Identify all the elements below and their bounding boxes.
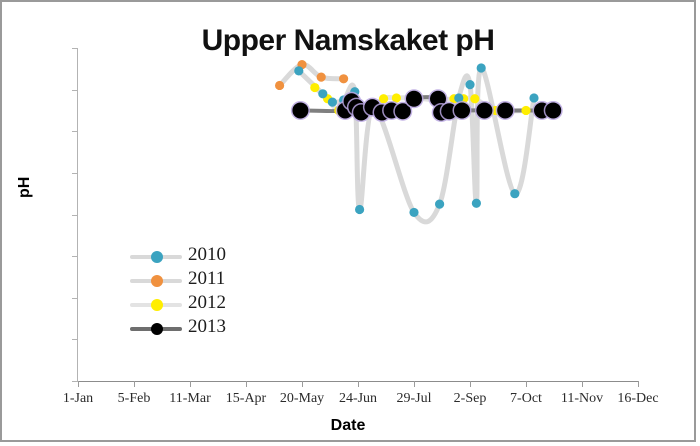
data-point <box>472 199 481 208</box>
legend-item-2010[interactable]: 2010 <box>130 245 255 269</box>
data-point <box>294 66 303 75</box>
data-point <box>392 93 401 102</box>
legend-marker-dot <box>151 275 163 287</box>
data-point <box>409 93 418 102</box>
series-2010 <box>299 68 534 222</box>
data-point <box>534 102 550 118</box>
data-point <box>348 99 364 115</box>
data-point <box>334 106 343 115</box>
data-point <box>435 199 444 208</box>
y-tick-mark <box>72 256 78 257</box>
legend-label: 2011 <box>188 268 225 290</box>
x-tick-mark <box>582 381 583 387</box>
data-point <box>544 106 553 115</box>
data-point <box>297 60 306 69</box>
legend-item-2011[interactable]: 2011 <box>130 269 255 293</box>
data-point <box>497 102 513 118</box>
legend-label: 2013 <box>188 316 226 338</box>
series-2013 <box>300 97 553 113</box>
marker-halo <box>347 98 366 117</box>
data-point <box>433 105 449 121</box>
x-tick-mark <box>358 381 359 387</box>
y-tick-mark <box>72 298 78 299</box>
data-point <box>491 106 500 115</box>
marker-halo <box>336 101 355 120</box>
marker-halo <box>429 89 448 108</box>
series-markers-2010 <box>294 63 538 217</box>
marker-halo <box>373 103 392 122</box>
chart-legend: 2010201120122013 <box>130 245 255 341</box>
data-point <box>353 105 369 121</box>
series-2011 <box>280 65 344 86</box>
series-line-2013 <box>300 97 553 113</box>
data-point <box>339 95 348 104</box>
x-tick-mark <box>470 381 471 387</box>
data-point <box>529 93 538 102</box>
data-point <box>323 94 332 103</box>
marker-halo <box>496 101 515 120</box>
data-point <box>369 104 378 113</box>
data-point <box>384 102 400 118</box>
y-tick-mark <box>72 90 78 91</box>
series-markers-2011 <box>275 60 348 90</box>
data-point <box>510 189 519 198</box>
data-point <box>350 87 359 96</box>
data-point <box>328 98 337 107</box>
legend-marker-dot <box>151 299 163 311</box>
series-markers-2012 <box>310 83 553 117</box>
data-point <box>374 105 390 121</box>
data-point <box>395 103 411 119</box>
series-line-2010 <box>299 68 534 222</box>
x-tick-mark <box>134 381 135 387</box>
y-tick-mark <box>72 173 78 174</box>
data-point <box>454 102 470 118</box>
legend-label: 2010 <box>188 244 226 266</box>
series-line-2011 <box>280 65 344 86</box>
data-point <box>459 94 468 103</box>
y-tick-mark <box>72 215 78 216</box>
chart-container: Upper Namskaket pH pH Date 876543210 1-J… <box>0 0 696 442</box>
legend-marker-dot <box>151 323 163 335</box>
data-point <box>355 205 364 214</box>
marker-halo <box>544 101 563 120</box>
marker-halo <box>291 101 310 120</box>
marker-halo <box>393 102 412 121</box>
marker-halo <box>440 102 459 121</box>
data-point <box>275 81 284 90</box>
y-tick-mark <box>72 48 78 49</box>
data-point <box>521 106 530 115</box>
data-point <box>406 91 422 107</box>
marker-halo <box>382 101 401 120</box>
data-point <box>337 102 353 118</box>
series-2012 <box>315 88 549 113</box>
x-tick-mark <box>526 381 527 387</box>
series-line-2012 <box>315 88 549 113</box>
data-point <box>379 94 388 103</box>
marker-halo <box>432 103 451 122</box>
data-point <box>470 94 479 103</box>
data-point <box>441 103 457 119</box>
legend-item-2012[interactable]: 2012 <box>130 293 255 317</box>
y-tick-mark <box>72 131 78 132</box>
y-tick-mark <box>72 339 78 340</box>
data-point <box>433 95 442 104</box>
data-point <box>360 108 369 117</box>
legend-label: 2012 <box>188 292 226 314</box>
data-point <box>449 94 458 103</box>
series-markers-2013 <box>291 89 563 122</box>
x-tick-mark <box>638 381 639 387</box>
marker-halo <box>453 101 472 120</box>
data-point <box>292 102 308 118</box>
marker-halo <box>342 92 361 111</box>
x-tick-mark <box>302 381 303 387</box>
chart-title: Upper Namskaket pH <box>2 24 694 58</box>
data-point <box>347 97 356 106</box>
data-point <box>476 102 492 118</box>
data-point <box>409 208 418 217</box>
data-point <box>318 89 327 98</box>
y-axis-title: pH <box>16 177 34 198</box>
data-point <box>339 74 348 83</box>
data-point <box>310 83 319 92</box>
data-point <box>430 91 446 107</box>
marker-halo <box>363 98 382 117</box>
x-tick-mark <box>78 381 79 387</box>
plot-series-layer <box>2 2 698 444</box>
data-point <box>364 99 380 115</box>
legend-marker-dot <box>151 251 163 263</box>
x-tick-mark <box>246 381 247 387</box>
x-axis-title: Date <box>2 417 694 435</box>
data-point <box>344 93 360 109</box>
legend-item-2013[interactable]: 2013 <box>130 317 255 341</box>
marker-halo <box>405 89 424 108</box>
data-point <box>545 102 561 118</box>
data-point <box>317 73 326 82</box>
data-point <box>454 93 463 102</box>
marker-halo <box>475 101 494 120</box>
x-tick-mark <box>414 381 415 387</box>
data-point <box>477 63 486 72</box>
x-tick-mark <box>190 381 191 387</box>
marker-halo <box>352 103 371 122</box>
marker-halo <box>533 101 552 120</box>
x-tick-label: 16-Dec <box>603 391 673 407</box>
data-point <box>465 80 474 89</box>
